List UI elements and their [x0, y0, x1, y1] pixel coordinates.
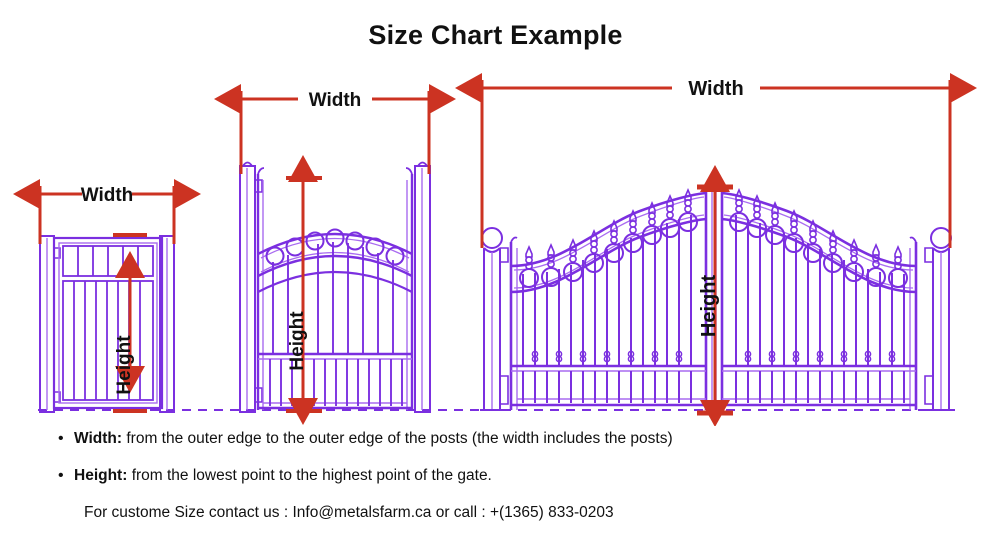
- note-height-term: Height:: [74, 467, 127, 484]
- note-height-body: from the lowest point to the highest poi…: [127, 467, 491, 484]
- note-width: • Width: from the outer edge to the oute…: [0, 428, 991, 449]
- contact-line: For custome Size contact us : Info@metal…: [0, 502, 991, 523]
- medium-gate-width-label: Width: [309, 90, 362, 111]
- note-width-text: Width: from the outer edge to the outer …: [74, 428, 673, 449]
- small-gate-top-band: [63, 246, 153, 276]
- small-gate-width-dimension: Width: [40, 185, 174, 244]
- small-gate-width-label: Width: [81, 185, 134, 206]
- large-gate-left-ogee-band: [511, 193, 706, 292]
- small-gate-pickets: [63, 281, 153, 400]
- small-gate-left-post: [40, 236, 54, 412]
- medium-gate-height-label: Height: [287, 311, 308, 371]
- medium-gate-mid-rail: [258, 354, 412, 359]
- large-gate-left-post: [480, 228, 506, 410]
- gate-size-diagram: Width Height: [0, 66, 991, 426]
- medium-gate: Width Height: [240, 90, 430, 412]
- large-gate-right-bottom-pickets: [736, 371, 904, 403]
- large-gate-width-label: Width: [688, 78, 743, 100]
- medium-gate-left-post: [240, 163, 255, 413]
- large-gate: Width Height: [480, 78, 953, 413]
- large-gate-right-pickets: [736, 215, 904, 366]
- large-gate-right-post: [927, 228, 953, 410]
- medium-gate-right-post: [415, 163, 430, 413]
- small-gate: Width Height: [40, 185, 174, 412]
- small-gate-height-label: Height: [114, 335, 135, 395]
- page-title: Size Chart Example: [0, 20, 991, 51]
- note-height-text: Height: from the lowest point to the hig…: [74, 465, 492, 486]
- bullet-icon: •: [58, 428, 74, 449]
- note-height: • Height: from the lowest point to the h…: [0, 465, 991, 486]
- large-gate-height-label: Height: [698, 275, 720, 338]
- notes-list: • Width: from the outer edge to the oute…: [0, 428, 991, 523]
- medium-gate-width-dimension: Width: [241, 90, 429, 174]
- large-gate-left-bottom-pickets: [523, 371, 691, 403]
- medium-gate-arch-band: [258, 230, 412, 277]
- note-width-body: from the outer edge to the outer edge of…: [122, 430, 673, 447]
- large-gate-left-pickets: [523, 215, 691, 366]
- bullet-icon: •: [58, 465, 74, 486]
- size-chart-page: Size Chart Example: [0, 0, 991, 546]
- note-width-term: Width:: [74, 430, 122, 447]
